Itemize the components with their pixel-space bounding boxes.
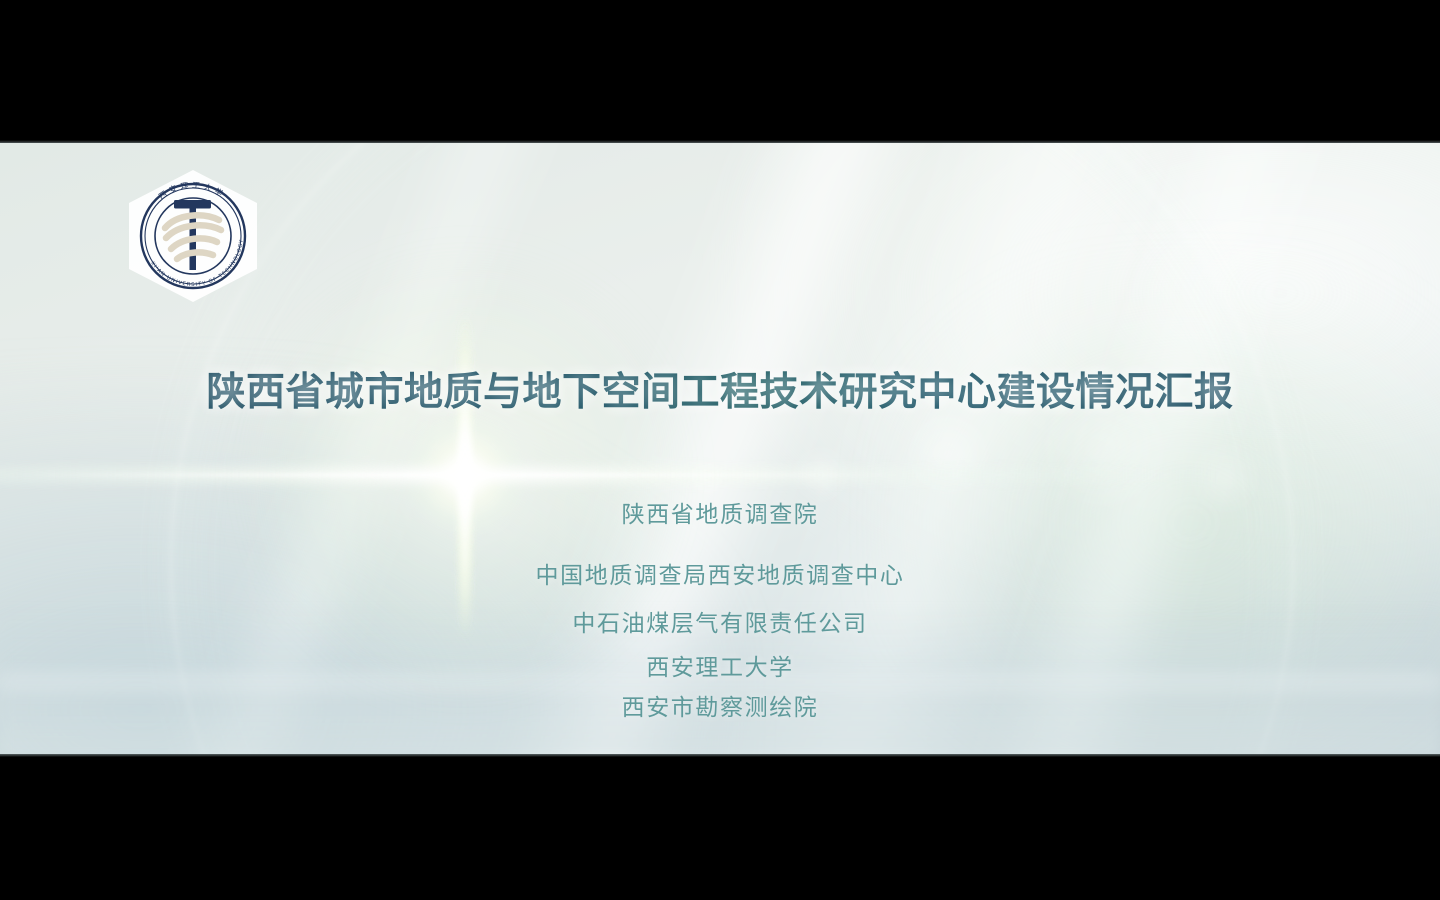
lens-flare-ghost-2 bbox=[905, 411, 991, 497]
university-logo: 西安理工大学 XI'AN UNIVERSITY OF TECHNOLOGY bbox=[117, 166, 269, 306]
organization-line-3: 中石油煤层气有限责任公司 bbox=[0, 604, 1440, 638]
slide-canvas: 西安理工大学 XI'AN UNIVERSITY OF TECHNOLOGY bbox=[0, 143, 1440, 757]
organization-line-4: 西安理工大学 bbox=[0, 648, 1440, 682]
university-logo-svg: 西安理工大学 XI'AN UNIVERSITY OF TECHNOLOGY bbox=[117, 166, 269, 306]
video-frame: 西安理工大学 XI'AN UNIVERSITY OF TECHNOLOGY bbox=[0, 0, 1440, 900]
organization-line-2: 中国地质调查局西安地质调查中心 bbox=[0, 556, 1440, 590]
logo-hammer-head bbox=[174, 200, 211, 209]
letterbox-edge-bottom bbox=[0, 754, 1440, 757]
slide-title: 陕西省城市地质与地下空间工程技术研究中心建设情况汇报 bbox=[0, 361, 1440, 417]
letterbox-bar-bottom bbox=[0, 757, 1440, 900]
organization-line-5: 西安市勘察测绘院 bbox=[0, 688, 1440, 722]
organization-line-1: 陕西省地质调查院 bbox=[0, 495, 1440, 529]
letterbox-edge-top bbox=[0, 140, 1440, 143]
letterbox-bar-top bbox=[0, 0, 1440, 143]
